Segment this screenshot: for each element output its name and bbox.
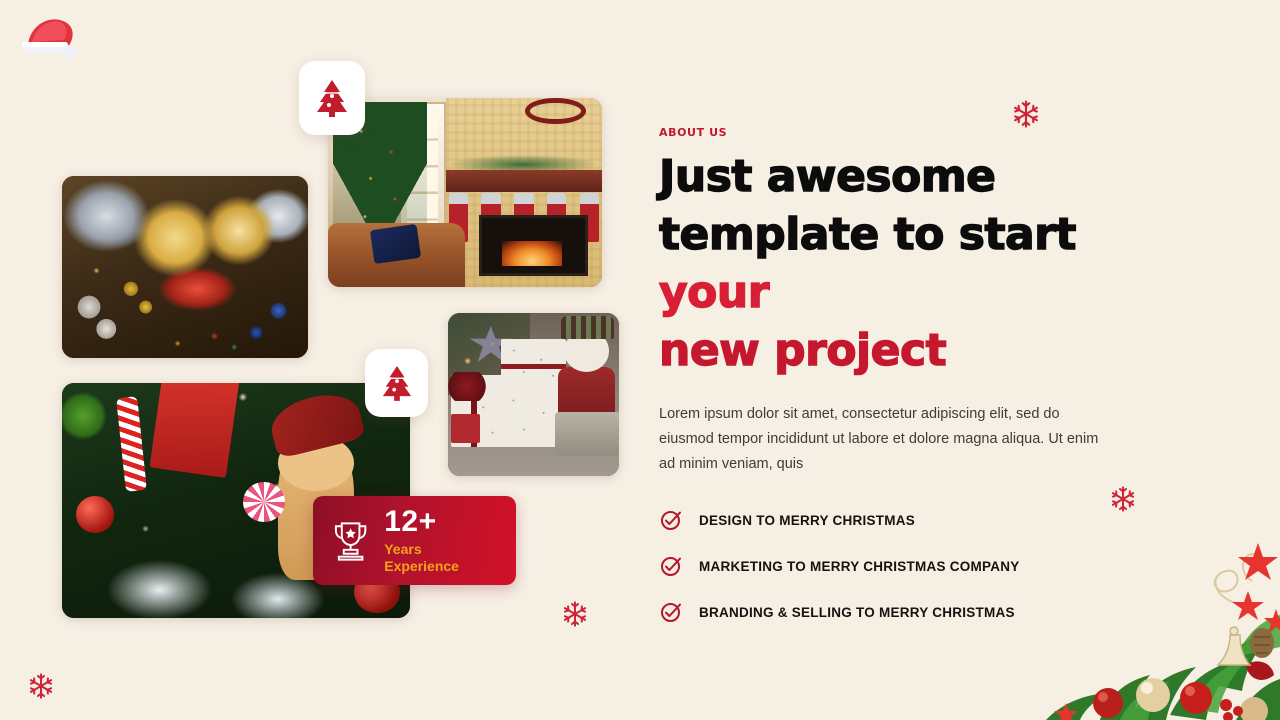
check-circle-icon: [659, 600, 683, 624]
section-label: ABOUT US: [659, 126, 1199, 139]
christmas-fireplace-room-photo: [328, 98, 602, 287]
snowflake-icon: [1109, 485, 1137, 513]
check-circle-icon: [659, 554, 683, 578]
headline-accent-your: your: [659, 267, 769, 318]
pinecone: [1250, 628, 1274, 658]
christmas-gifts-photo: [448, 313, 619, 476]
headline-line-2: template to start: [659, 209, 1076, 260]
christmas-tree-icon: [381, 365, 413, 401]
snowflake-icon: [1011, 99, 1041, 129]
christmas-tree-card: [365, 349, 428, 417]
snowflake-icon: [561, 600, 589, 628]
checklist-label: BRANDING & SELLING TO MERRY CHRISTMAS: [699, 605, 1015, 620]
golden-christmas-bells-photo: [62, 176, 308, 358]
body-paragraph: Lorem ipsum dolor sit amet, consectetur …: [659, 402, 1111, 477]
gold-bauble: [1136, 678, 1170, 712]
snowflake-icon: [27, 672, 55, 700]
headline-accent-new-project: new project: [659, 325, 946, 376]
checklist-label: MARKETING TO MERRY CHRISTMAS COMPANY: [699, 559, 1020, 574]
badge-caption: Years Experience: [384, 541, 498, 575]
years-experience-badge: 12+ Years Experience: [313, 496, 516, 585]
headline-line-1: Just awesome: [659, 151, 996, 202]
page-title: Just awesome template to start your new …: [659, 148, 1199, 380]
christmas-tree-icon: [315, 79, 349, 117]
christmas-garland-corner: [1000, 515, 1280, 720]
badge-number: 12+: [384, 506, 498, 538]
christmas-tree-card: [299, 61, 365, 135]
check-circle-icon: [659, 508, 683, 532]
red-bauble: [1180, 682, 1212, 714]
red-bauble: [1093, 688, 1123, 718]
trophy-icon: [331, 519, 370, 563]
checklist-label: DESIGN TO MERRY CHRISTMAS: [699, 513, 915, 528]
santa-hat-icon: [18, 12, 82, 62]
